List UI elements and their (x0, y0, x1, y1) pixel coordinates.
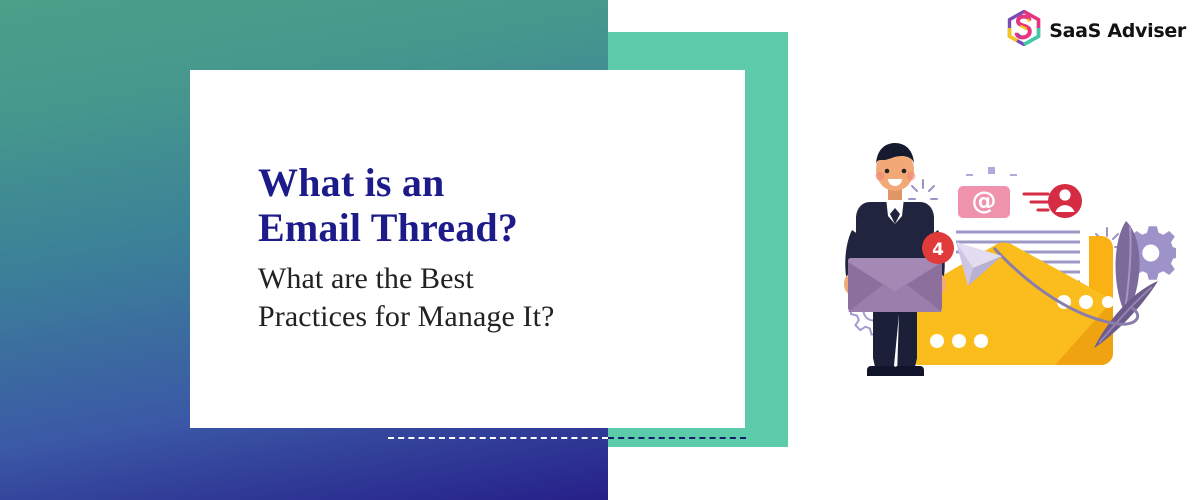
dashed-rule-left-segment (388, 437, 608, 439)
dashed-rule-right-segment (608, 437, 746, 439)
sparkle-left-icon (909, 180, 937, 199)
dashed-rule (388, 437, 746, 440)
brand-name: SaaS Adviser (1049, 20, 1186, 42)
email-thread-illustration: @ (826, 138, 1176, 383)
headline-line-1: What is an (258, 160, 445, 205)
page-title: What is an Email Thread? (258, 160, 678, 250)
headline-line-2: Email Thread? (258, 205, 518, 250)
contact-avatar-icon (1048, 184, 1082, 218)
hero-text-block: What is an Email Thread? What are the Be… (258, 160, 678, 335)
hexagon-s-logo-icon (1007, 10, 1041, 51)
notification-count: 4 (932, 240, 944, 260)
brand-logo[interactable]: SaaS Adviser (1007, 10, 1186, 51)
subline-line-2: Practices for Manage It? (258, 300, 554, 333)
at-symbol: @ (972, 186, 997, 215)
subline-line-1: What are the Best (258, 262, 474, 295)
notification-badge: 4 (922, 232, 954, 264)
page-subtitle: What are the Best Practices for Manage I… (258, 260, 678, 335)
email-thread-banner: What is an Email Thread? What are the Be… (0, 0, 1200, 500)
